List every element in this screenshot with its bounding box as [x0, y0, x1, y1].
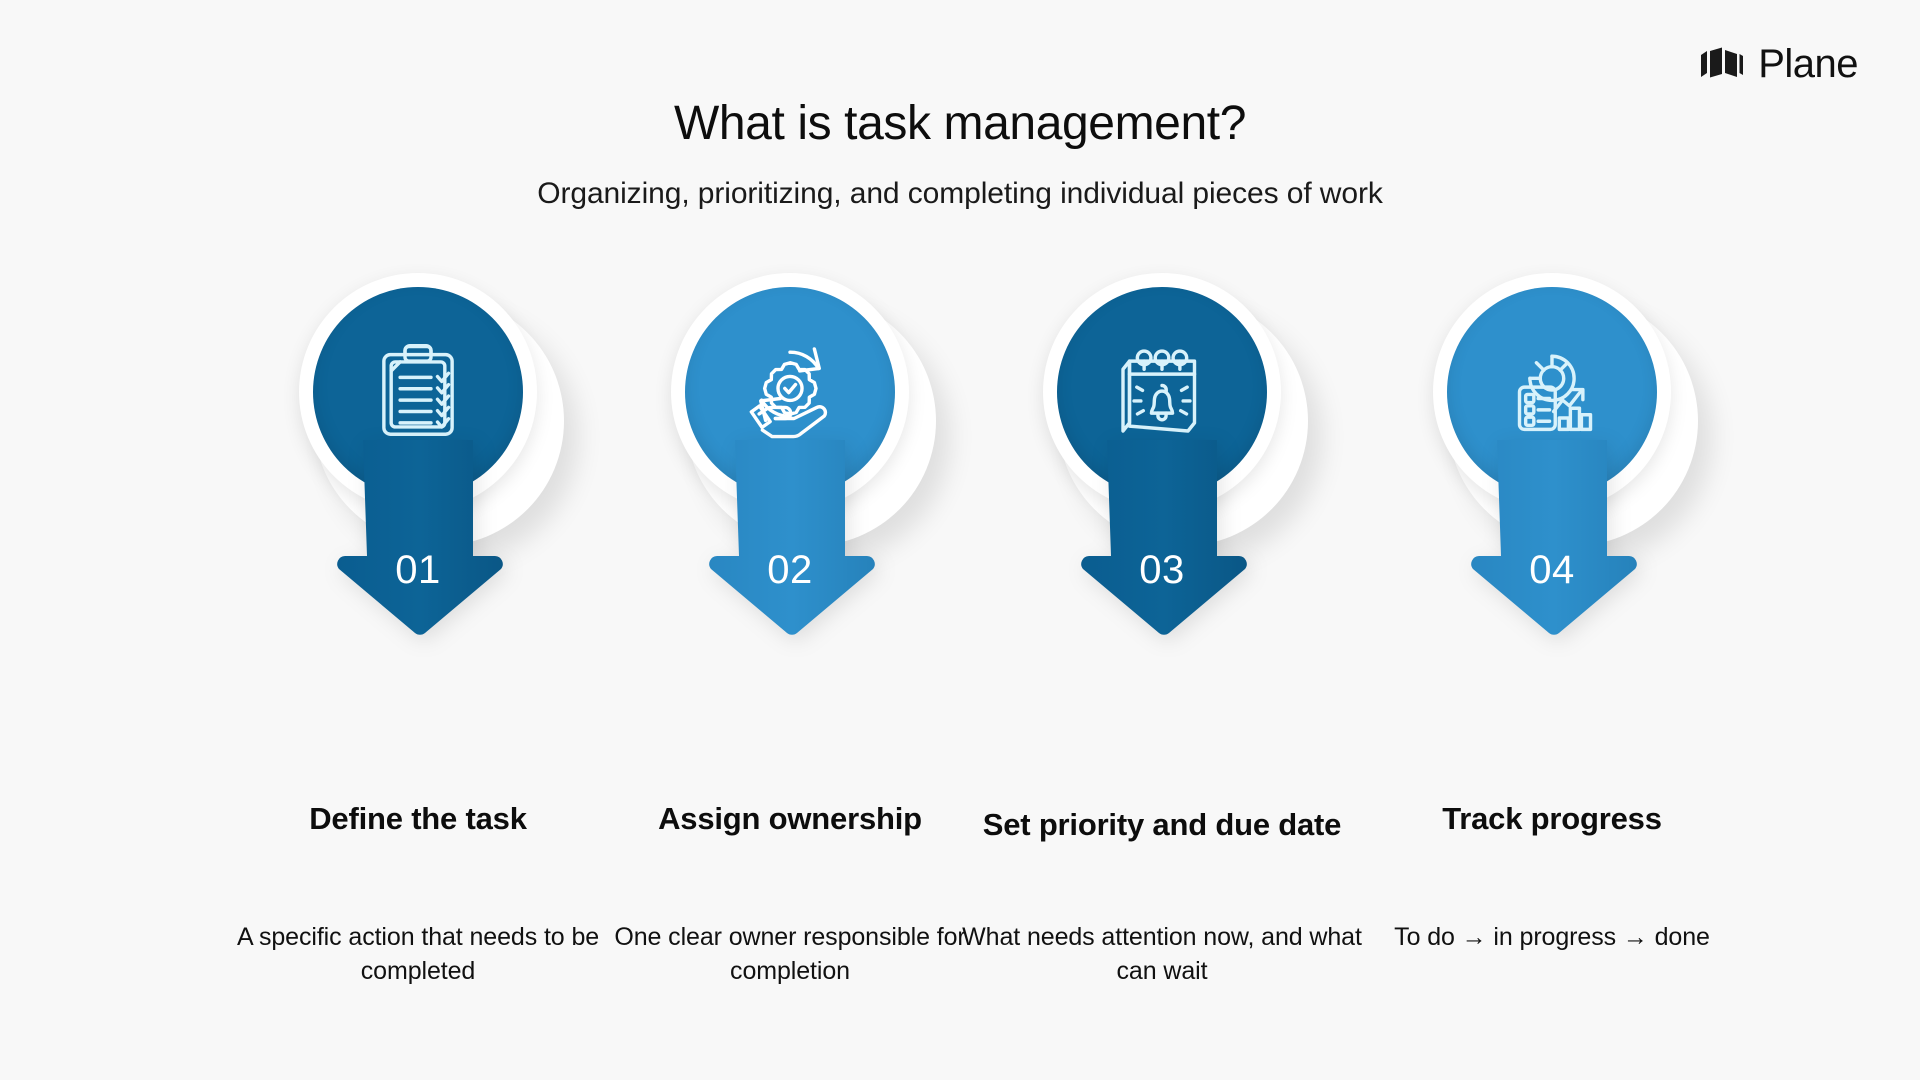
step-arrow-4: 04 — [1464, 440, 1640, 640]
step-title-3: Set priority and due date — [952, 806, 1372, 845]
progress-chart-checklist-icon — [1500, 340, 1604, 444]
step-title-1: Define the task — [208, 800, 628, 839]
hand-holding-gear-check-icon — [738, 340, 842, 444]
step-description-3: What needs attention now, and what can w… — [952, 920, 1372, 988]
clipboard-checklist-icon — [366, 340, 470, 444]
step-description-4: To do → in progress → done — [1342, 920, 1762, 954]
step-title-4: Track progress — [1342, 800, 1762, 839]
step-arrow-1: 01 — [330, 440, 506, 640]
steps-container: 01 Define the task A specific action tha… — [0, 0, 1920, 1080]
step-description-2: One clear owner responsible for completi… — [580, 920, 1000, 988]
step-arrow-2: 02 — [702, 440, 878, 640]
step-description-1: A specific action that needs to be compl… — [208, 920, 628, 988]
calendar-bell-alarm-icon — [1110, 340, 1214, 444]
step-title-2: Assign ownership — [580, 800, 1000, 839]
step-arrow-3: 03 — [1074, 440, 1250, 640]
